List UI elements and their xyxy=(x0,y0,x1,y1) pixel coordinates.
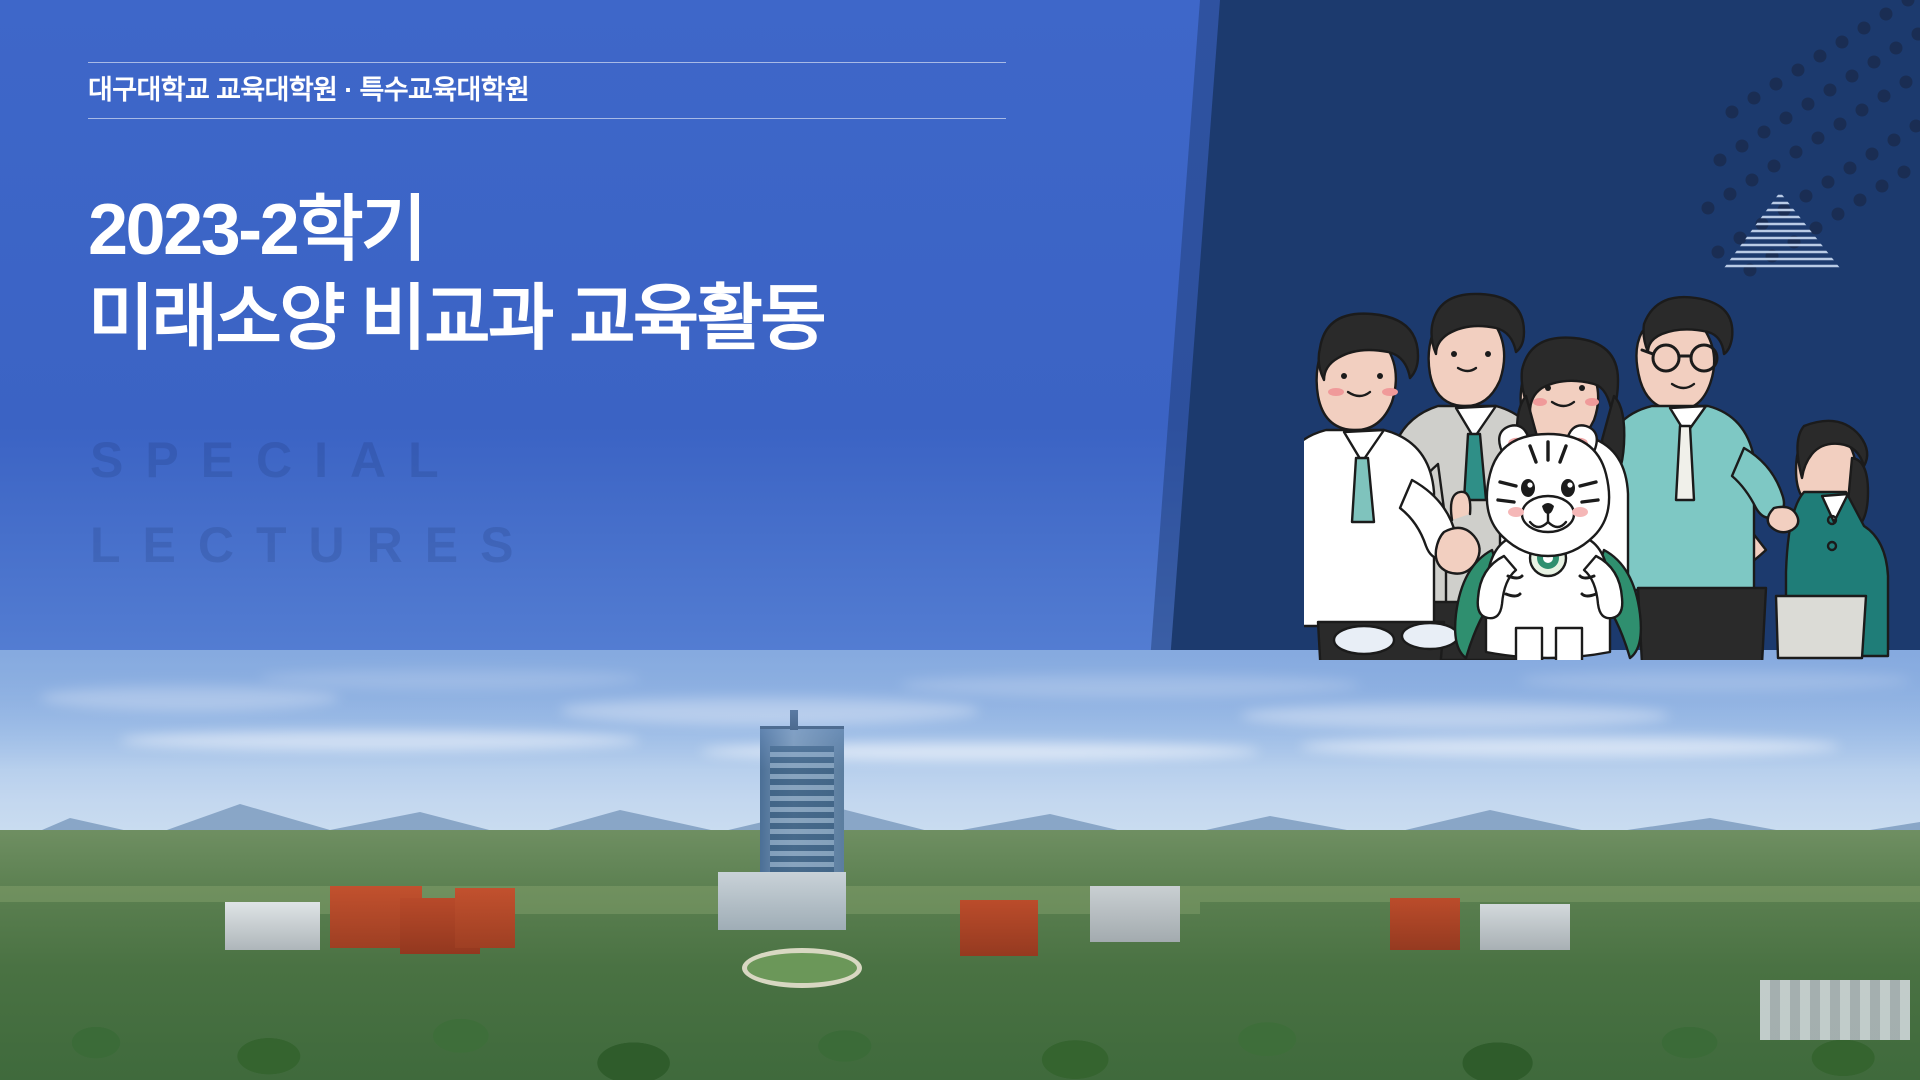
photo-top-fade xyxy=(0,650,1920,770)
watermark-line-2: LECTURES xyxy=(90,503,535,588)
page-title: 2023-2학기 미래소양 비교과 교육활동 xyxy=(88,186,824,365)
campus-aerial-photo xyxy=(0,650,1920,1080)
eyebrow-block: 대구대학교 교육대학원 · 특수교육대학원 xyxy=(88,62,1006,119)
tree-canopy xyxy=(0,910,1920,1080)
banner-root: 대구대학교 교육대학원 · 특수교육대학원 2023-2학기 미래소양 비교과 … xyxy=(0,0,1920,1080)
watermark-text: SPECIAL LECTURES xyxy=(90,418,535,588)
title-line-1: 2023-2학기 xyxy=(88,186,824,275)
title-line-2: 미래소양 비교과 교육활동 xyxy=(88,275,824,364)
eyebrow-text: 대구대학교 교육대학원 · 특수교육대학원 xyxy=(88,63,1006,118)
stadium-stands xyxy=(1760,980,1910,1040)
students-and-mascot-illustration xyxy=(1304,220,1904,660)
watermark-line-1: SPECIAL xyxy=(90,418,535,503)
rule-bottom xyxy=(88,118,1006,119)
